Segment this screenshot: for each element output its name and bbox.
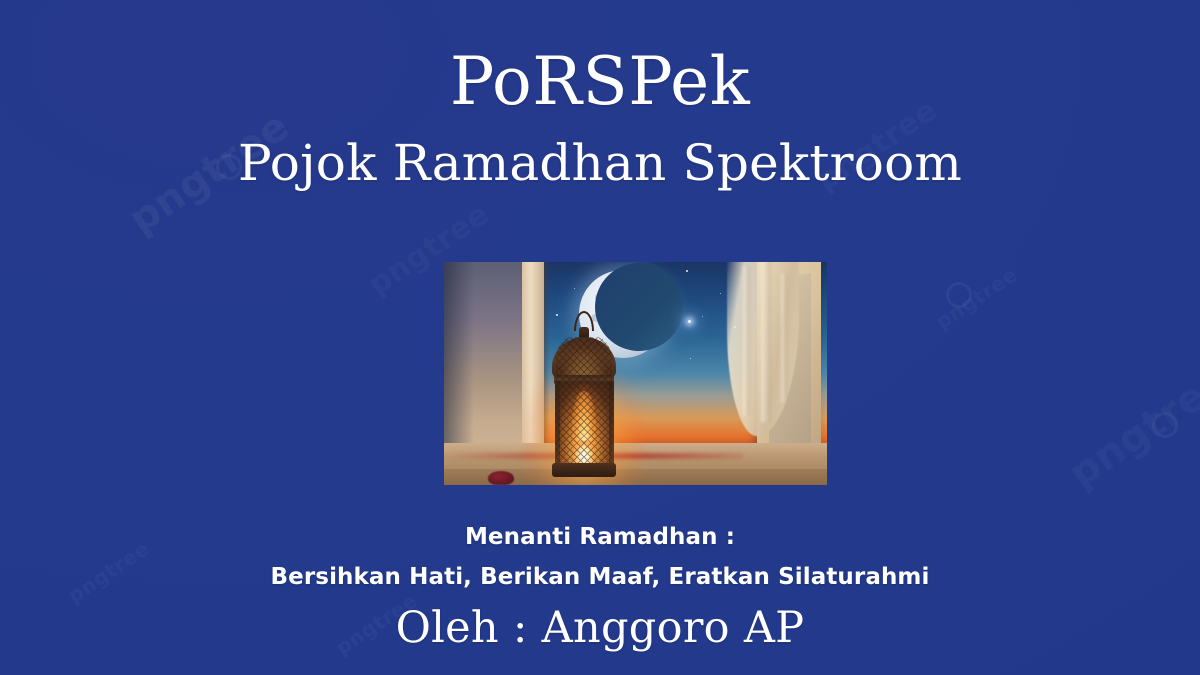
slide-title: PoRSPek bbox=[450, 48, 750, 115]
slide-caption: Menanti Ramadhan : Bersihkan Hati, Berik… bbox=[0, 518, 1200, 597]
bright-star-icon bbox=[688, 320, 691, 323]
presentation-slide: pngtree pngtree pngtree pngtree pngtree … bbox=[0, 0, 1200, 675]
slide-byline: Oleh : Anggoro AP bbox=[0, 603, 1200, 653]
caption-line-1: Menanti Ramadhan : bbox=[0, 518, 1200, 558]
ramadan-lantern-icon bbox=[548, 311, 620, 477]
caption-line-2: Bersihkan Hati, Berikan Maaf, Eratkan Si… bbox=[0, 558, 1200, 598]
illustration-scene bbox=[444, 262, 827, 485]
slide-subtitle: Pojok Ramadhan Spektroom bbox=[238, 137, 962, 190]
ramadan-lantern-image bbox=[444, 262, 827, 485]
dates-bowl bbox=[488, 471, 514, 485]
